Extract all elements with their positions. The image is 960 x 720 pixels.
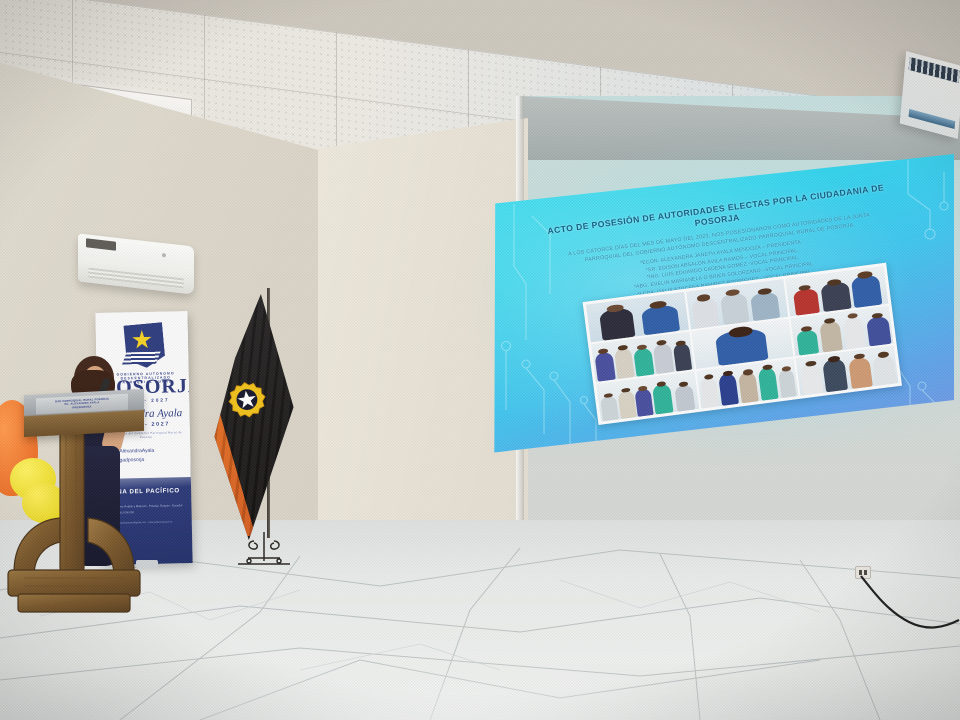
air-conditioner-right-icon <box>900 51 960 139</box>
black-power-cable <box>855 572 960 642</box>
flag-stand <box>233 532 295 572</box>
podium-plate-text: GAD PARROQUIAL RURAL POSORJA EC. ALEXAND… <box>55 397 109 411</box>
ac-brand-badge <box>86 238 116 250</box>
ac-right-grill <box>909 57 960 83</box>
flag-assembly <box>205 288 305 578</box>
photo-scene: ACTO DE POSESIÓN DE AUTORIDADES ELECTAS … <box>0 0 960 720</box>
gear-star-emblem-icon <box>224 377 269 422</box>
ac-led-dot <box>162 253 166 257</box>
ac-right-vent <box>909 109 956 129</box>
